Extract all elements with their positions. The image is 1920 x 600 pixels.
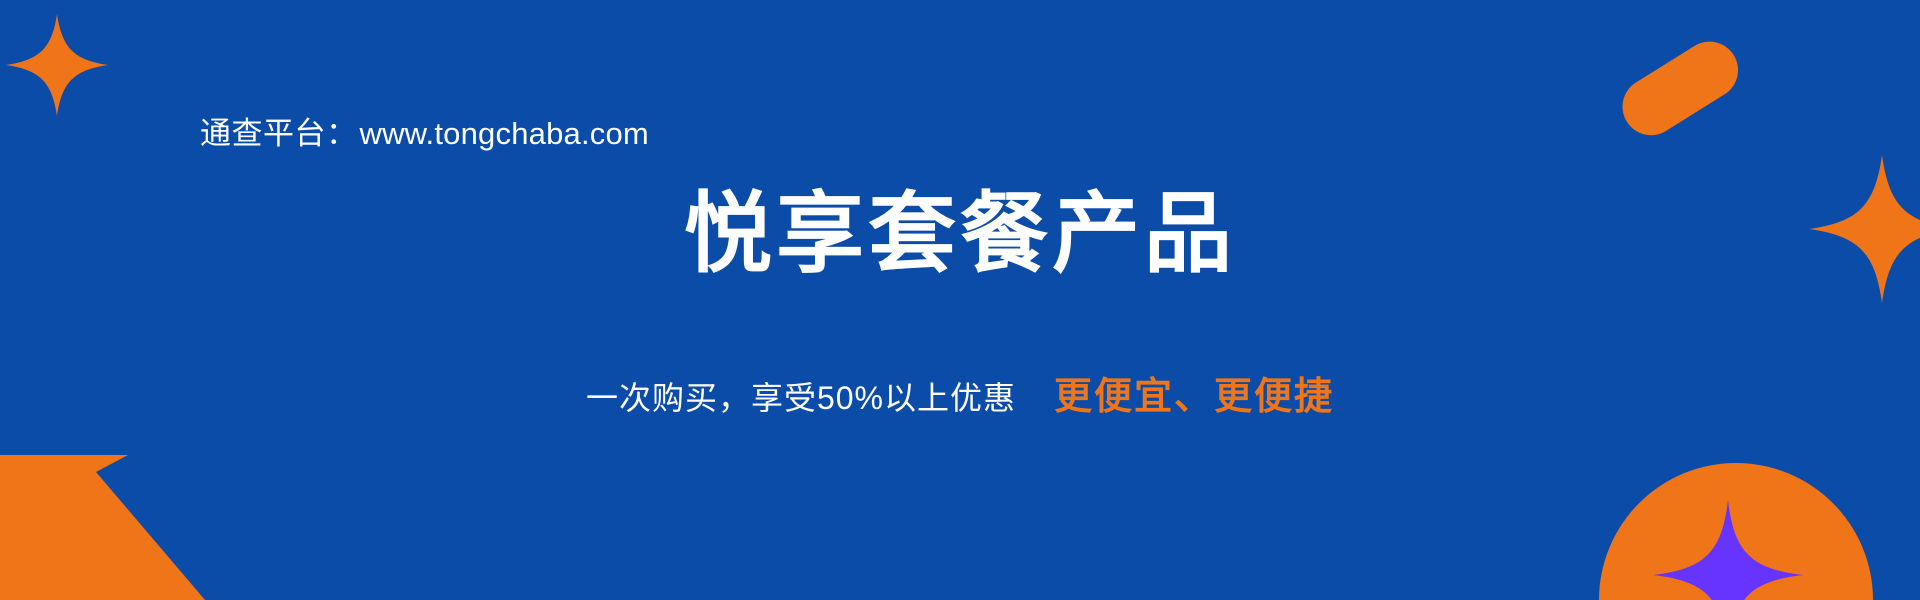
promo-banner: 通查平台：www.tongchaba.com 悦享套餐产品 一次购买，享受50%… <box>0 0 1920 600</box>
banner-title: 悦享套餐产品 <box>0 190 1920 278</box>
subtitle-accent-text: 更便宜、更便捷 <box>1054 365 1334 420</box>
platform-line: 通查平台：www.tongchaba.com <box>200 108 649 153</box>
subtitle-plain-text: 一次购买，享受50%以上优惠 <box>586 373 1016 419</box>
banner-content: 通查平台：www.tongchaba.com 悦享套餐产品 一次购买，享受50%… <box>0 0 1920 600</box>
platform-label: 通查平台： <box>200 116 358 151</box>
platform-url: www.tongchaba.com <box>360 116 649 151</box>
banner-subtitle: 一次购买，享受50%以上优惠 更便宜、更便捷 <box>0 365 1920 420</box>
